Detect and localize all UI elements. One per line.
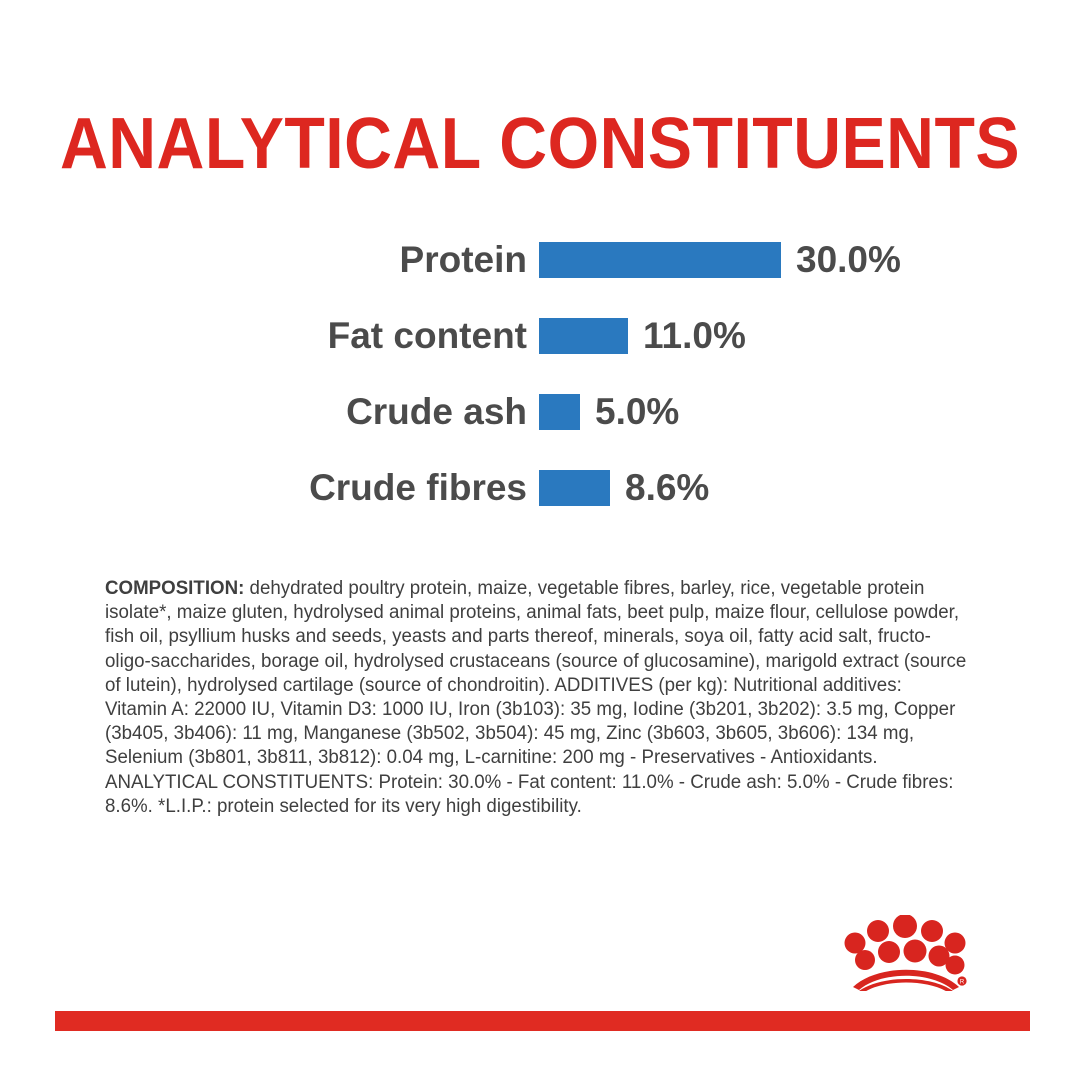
analytical-constituents-chart: Protein 30.0% Fat content 11.0% Crude as…: [0, 222, 1080, 526]
bar-value-crude-fibres: 8.6%: [625, 466, 709, 510]
bar-value-fat-content: 11.0%: [643, 314, 746, 358]
bar-track-crude-ash: 5.0%: [539, 390, 679, 434]
table-row: Fat content 11.0%: [0, 298, 1080, 374]
bar-label-fat-content: Fat content: [0, 314, 527, 358]
composition-label: COMPOSITION:: [105, 578, 244, 599]
bar-track-protein: 30.0%: [539, 238, 901, 282]
bar-label-crude-fibres: Crude fibres: [0, 466, 527, 510]
table-row: Crude ash 5.0%: [0, 374, 1080, 450]
bar-track-crude-fibres: 8.6%: [539, 466, 709, 510]
bar-fill-protein: [539, 242, 781, 278]
bar-fill-fat-content: [539, 318, 628, 354]
composition-paragraph: COMPOSITION: dehydrated poultry protein,…: [105, 577, 968, 819]
bar-label-protein: Protein: [0, 238, 527, 282]
svg-text:R: R: [960, 980, 965, 986]
analytical-constituents-panel: ANALYTICAL CONSTITUENTS Protein 30.0% Fa…: [0, 0, 1080, 1080]
bar-value-protein: 30.0%: [796, 238, 901, 282]
table-row: Crude fibres 8.6%: [0, 450, 1080, 526]
royal-canin-logo: R: [843, 915, 969, 991]
footer-rule: [55, 1011, 1030, 1031]
composition-body: dehydrated poultry protein, maize, veget…: [105, 578, 966, 817]
bar-fill-crude-ash: [539, 394, 580, 430]
registered-mark-icon: R: [957, 976, 966, 985]
table-row: Protein 30.0%: [0, 222, 1080, 298]
crown-icon: R: [843, 915, 969, 991]
bar-track-fat-content: 11.0%: [539, 314, 746, 358]
page-title: ANALYTICAL CONSTITUENTS: [43, 104, 1037, 184]
bar-label-crude-ash: Crude ash: [0, 390, 527, 434]
bar-value-crude-ash: 5.0%: [595, 390, 679, 434]
bar-fill-crude-fibres: [539, 470, 610, 506]
